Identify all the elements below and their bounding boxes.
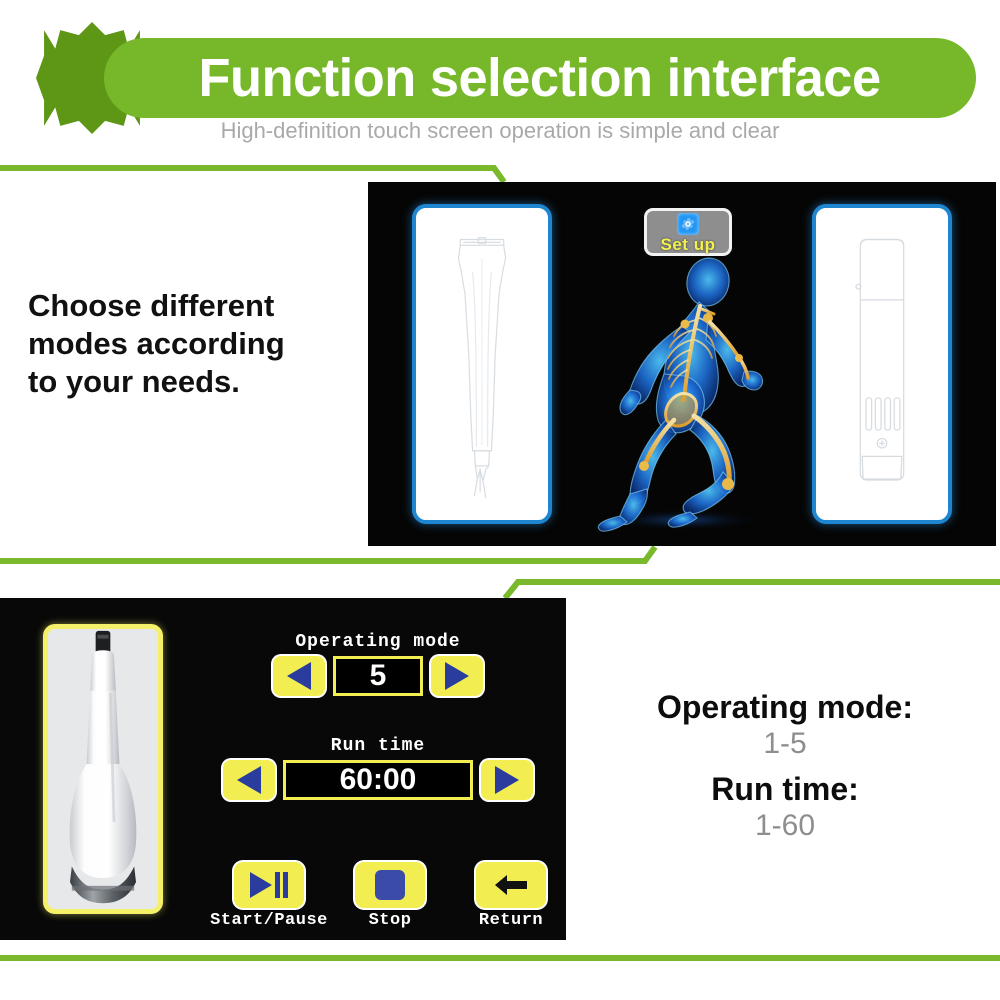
play-pause-icon	[250, 872, 272, 898]
device-photo	[43, 624, 163, 914]
spec-label-operating-mode: Operating mode:	[580, 690, 990, 726]
header-banner: Function selection interface	[104, 38, 976, 118]
run-time-caption: Run time	[188, 736, 566, 756]
start-pause-label: Start/Pause	[210, 911, 328, 930]
stop-action: Stop	[343, 862, 437, 940]
spec-value-operating-mode: 1-5	[580, 726, 990, 763]
run-time-decrement-button[interactable]	[223, 760, 275, 800]
white-ultrasound-probe-photo	[48, 629, 158, 909]
return-action: Return	[464, 862, 558, 940]
arrow-right-icon	[495, 766, 519, 794]
page-subtitle: High-definition touch screen operation i…	[0, 118, 1000, 144]
action-button-row: Start/Pause Stop Return	[222, 862, 558, 940]
headline-line-3: to your needs.	[28, 363, 358, 401]
start-pause-action: Start/Pause	[222, 862, 316, 940]
arrow-right-icon	[445, 662, 469, 690]
pause-bars-icon	[275, 872, 288, 898]
device-card-right	[812, 204, 952, 524]
run-time-increment-button[interactable]	[481, 760, 533, 800]
cylindrical-probe-device-illustration	[816, 208, 948, 520]
operating-mode-stepper: 5	[228, 656, 528, 696]
page-title: Function selection interface	[199, 47, 881, 109]
device-mode-panel: Set up	[368, 182, 996, 546]
start-pause-button[interactable]	[234, 862, 304, 908]
section1-headline: Choose different modes according to your…	[28, 287, 358, 400]
probe-handle-device-illustration	[416, 208, 548, 520]
arrow-left-icon	[237, 766, 261, 794]
operating-mode-caption: Operating mode	[228, 632, 528, 652]
headline-line-1: Choose different	[28, 287, 358, 325]
return-label: Return	[479, 911, 543, 930]
headline-line-2: modes according	[28, 325, 358, 363]
running-skeleton-anatomy-figure	[558, 248, 808, 532]
stop-square-icon	[375, 870, 405, 900]
run-time-value[interactable]: 60:00	[283, 760, 473, 800]
header: Function selection interface High-defini…	[0, 0, 1000, 160]
device-card-left	[412, 204, 552, 524]
stop-button[interactable]	[355, 862, 425, 908]
spec-label-run-time: Run time:	[580, 772, 990, 808]
infographic-page: Function selection interface High-defini…	[0, 0, 1000, 1000]
run-time-control: Run time 60:00	[188, 736, 566, 800]
back-arrow-icon	[491, 871, 531, 899]
return-button[interactable]	[476, 862, 546, 908]
gear-settings-icon	[677, 213, 699, 235]
operating-mode-increment-button[interactable]	[431, 656, 483, 696]
operating-mode-value[interactable]: 5	[333, 656, 423, 696]
stop-label: Stop	[369, 911, 412, 930]
spec-value-run-time: 1-60	[580, 808, 990, 845]
operating-mode-control: Operating mode 5	[228, 632, 528, 696]
run-time-stepper: 60:00	[188, 760, 566, 800]
spec-list: Operating mode: 1-5 Run time: 1-60	[580, 690, 990, 855]
arrow-left-icon	[287, 662, 311, 690]
operating-mode-decrement-button[interactable]	[273, 656, 325, 696]
